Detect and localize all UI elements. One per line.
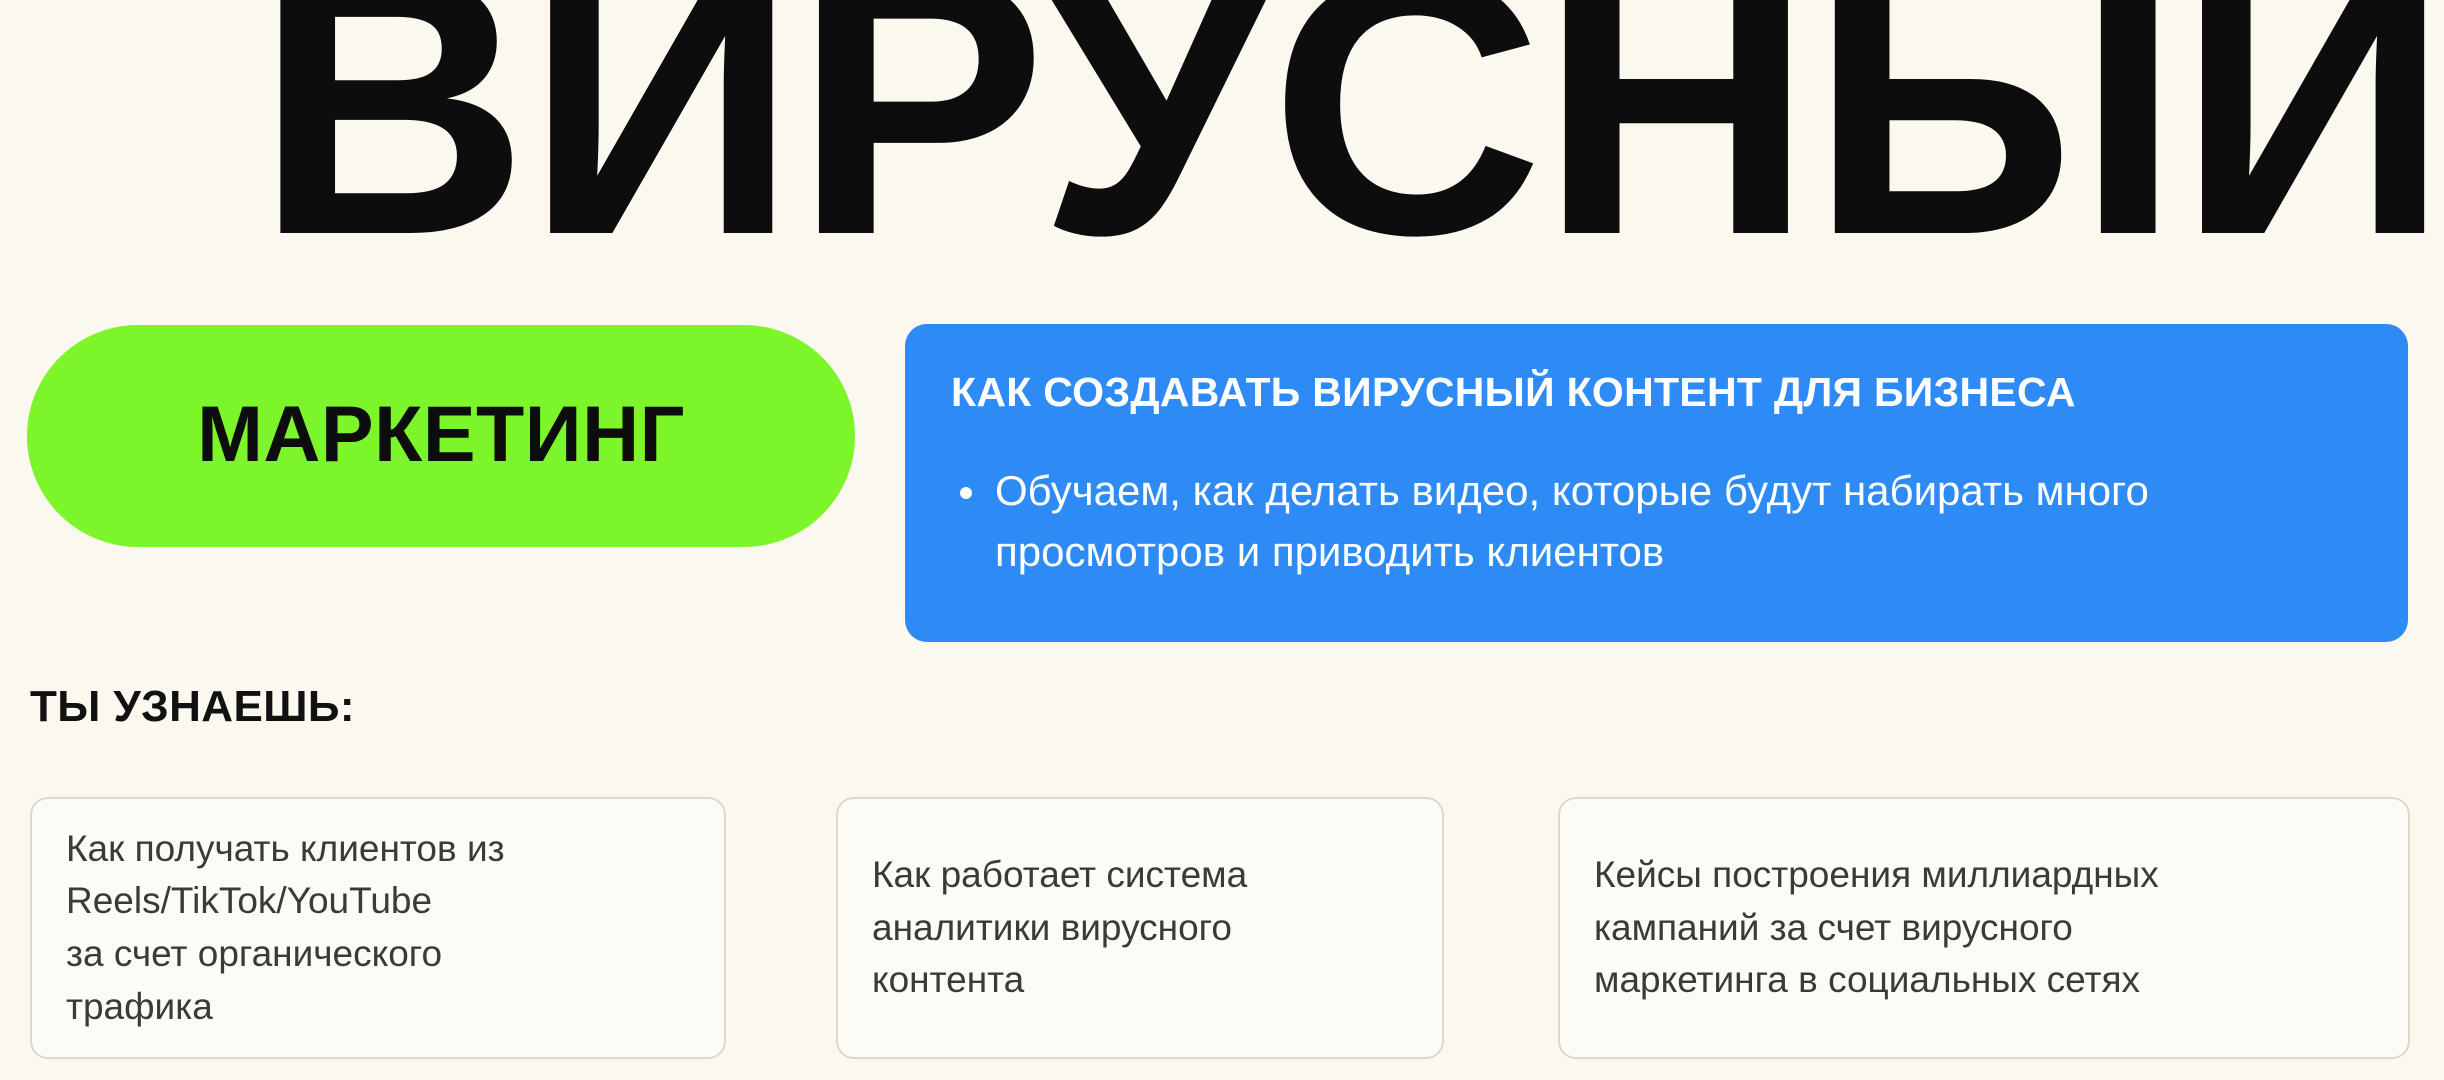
marketing-badge-label: МАРКЕТИНГ bbox=[27, 388, 855, 480]
learn-card-1: Как получать клиентов из Reels/TikTok/Yo… bbox=[30, 797, 726, 1059]
learn-cards-row: Как получать клиентов из Reels/TikTok/Yo… bbox=[30, 797, 2410, 1059]
promo-panel: КАК СОЗДАВАТЬ ВИРУСНЫЙ КОНТЕНТ ДЛЯ БИЗНЕ… bbox=[905, 324, 2408, 642]
promo-panel-heading: КАК СОЗДАВАТЬ ВИРУСНЫЙ КОНТЕНТ ДЛЯ БИЗНЕ… bbox=[951, 370, 2368, 415]
learn-section-title: ТЫ УЗНАЕШЬ: bbox=[30, 682, 355, 732]
promo-bullet-text: Обучаем, как делать видео, которые будут… bbox=[995, 467, 2149, 575]
learn-card-2-text: Как работает система аналитики вирусного… bbox=[872, 849, 1247, 1007]
learn-card-1-text: Как получать клиентов из Reels/TikTok/Yo… bbox=[66, 823, 505, 1033]
promo-panel-bullet-list: Обучаем, как делать видео, которые будут… bbox=[951, 461, 2368, 583]
list-item: Обучаем, как делать видео, которые будут… bbox=[951, 461, 2305, 583]
learn-card-3-text: Кейсы построения миллиардных кампаний за… bbox=[1594, 849, 2159, 1007]
bullet-dot-icon bbox=[960, 487, 972, 499]
learn-card-2: Как работает система аналитики вирусного… bbox=[836, 797, 1444, 1059]
learn-card-3: Кейсы построения миллиардных кампаний за… bbox=[1558, 797, 2410, 1059]
page-title: ВИРУСНЫЙ bbox=[255, 0, 2444, 290]
marketing-badge: МАРКЕТИНГ bbox=[27, 325, 855, 547]
landing-hero-page: ВИРУСНЫЙ МАРКЕТИНГ КАК СОЗДАВАТЬ ВИРУСНЫ… bbox=[0, 0, 2444, 1080]
